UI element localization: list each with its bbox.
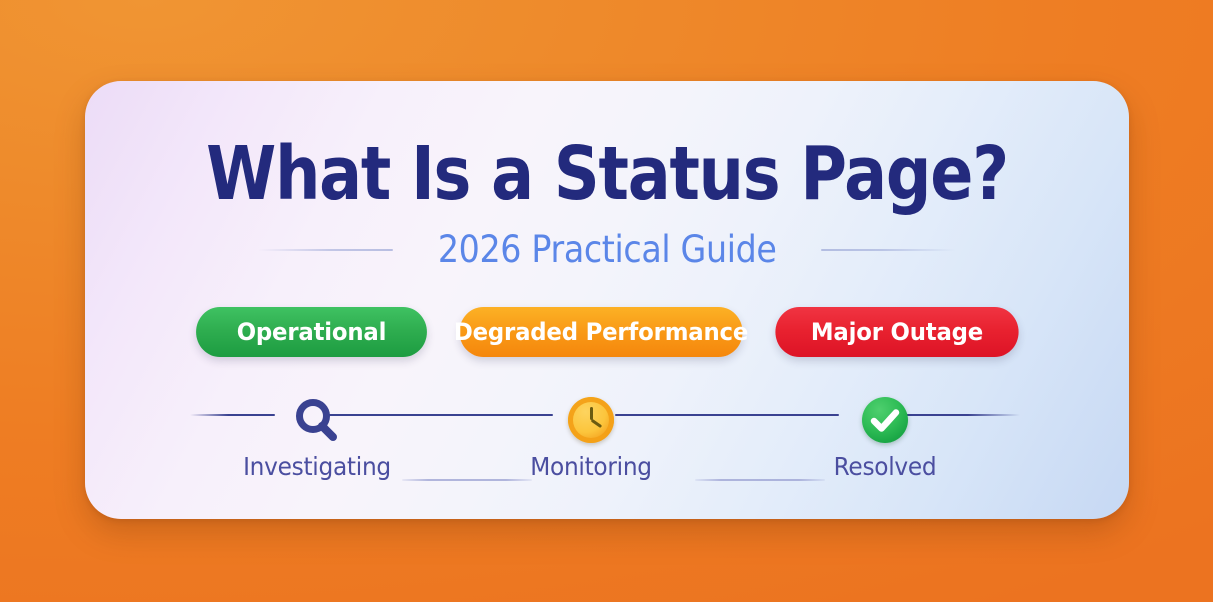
subtitle-rule-left	[258, 249, 393, 251]
timeline-step-resolved-label: Resolved	[811, 452, 960, 481]
timeline-step-monitoring[interactable]: Monitoring	[511, 396, 671, 481]
page-title: What Is a Status Page?	[158, 137, 1056, 211]
status-pill-operational-label: Operational	[236, 318, 386, 346]
status-page-card: What Is a Status Page? 2026 Practical Gu…	[85, 81, 1129, 519]
status-pill-major-outage-label: Major Outage	[810, 318, 982, 346]
status-pill-major-outage[interactable]: Major Outage	[775, 307, 1018, 357]
timeline-step-investigating[interactable]: Investigating	[237, 396, 397, 481]
poster-background: What Is a Status Page? 2026 Practical Gu…	[0, 0, 1213, 602]
status-pill-group: Operational Degraded Performance Major O…	[85, 307, 1129, 357]
timeline-step-investigating-label: Investigating	[243, 452, 392, 481]
clock-hour-hand	[590, 419, 602, 428]
clock-icon	[511, 396, 671, 444]
status-pill-degraded-performance[interactable]: Degraded Performance	[459, 307, 742, 357]
incident-timeline: Investigating Monitoring	[190, 396, 1020, 506]
status-pill-degraded-performance-label: Degraded Performance	[453, 318, 747, 346]
subtitle-rule-right	[821, 249, 956, 251]
check-circle-icon	[805, 396, 965, 444]
status-pill-operational[interactable]: Operational	[196, 307, 427, 357]
magnifier-icon	[237, 396, 397, 444]
timeline-step-monitoring-label: Monitoring	[517, 452, 666, 481]
page-subtitle: 2026 Practical Guide	[438, 228, 777, 271]
subtitle-row: 2026 Practical Guide	[85, 228, 1129, 271]
timeline-step-resolved[interactable]: Resolved	[805, 396, 965, 481]
